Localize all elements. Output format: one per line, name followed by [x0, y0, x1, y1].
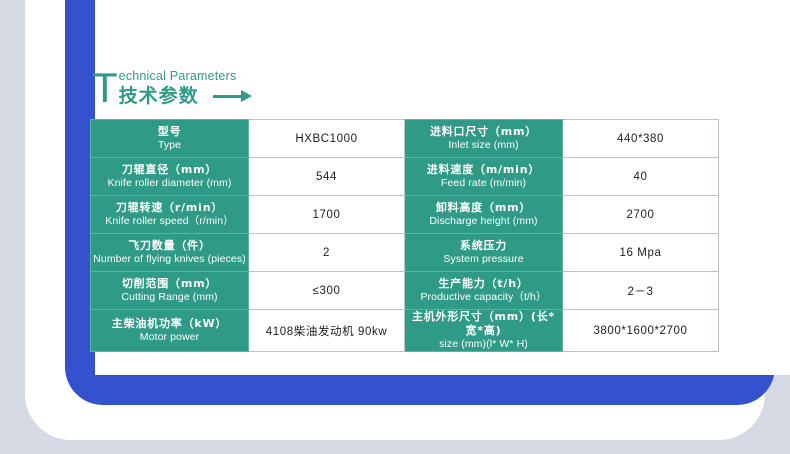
content-area: T echnical Parameters 技术参数 型号 Type HXBC1… [0, 0, 790, 454]
param-label-en: Feed rate (m/min) [407, 177, 560, 190]
param-label-cn: 刀辊直径（mm） [93, 163, 246, 177]
heading-chinese-row: 技术参数 [119, 85, 253, 107]
param-label-cell: 型号 Type [91, 120, 249, 158]
param-value-cell: 2 [249, 234, 405, 272]
param-label-cn: 卸料高度（mm） [407, 201, 560, 215]
param-label-en: Cutting Range (mm) [93, 291, 246, 304]
param-label-en: Motor power [93, 331, 246, 344]
param-label-cn: 进料口尺寸（mm） [407, 125, 560, 139]
param-label-en: Number of flying knives (pieces) [93, 253, 246, 266]
param-label-cell: 刀辊直径（mm） Knife roller diameter (mm) [91, 158, 249, 196]
technical-parameters-table: 型号 Type HXBC1000 进料口尺寸（mm） Inlet size (m… [90, 119, 719, 352]
param-label-en: Knife roller speed（r/min） [93, 215, 246, 228]
table-row: 刀辊直径（mm） Knife roller diameter (mm) 544 … [91, 158, 719, 196]
param-label-cell: 刀辊转速（r/min） Knife roller speed（r/min） [91, 196, 249, 234]
param-label-cn: 主柴油机功率（kW） [93, 317, 246, 331]
param-label-cn: 系统压力 [407, 239, 560, 253]
param-label-en: size (mm)(l* W* H) [407, 338, 560, 351]
heading-english: echnical Parameters [119, 69, 253, 83]
param-label-en: Knife roller diameter (mm) [93, 177, 246, 190]
table-row: 型号 Type HXBC1000 进料口尺寸（mm） Inlet size (m… [91, 120, 719, 158]
param-label-cell: 生产能力（t/h） Productive capacity（t/h） [405, 272, 563, 310]
table-row: 主柴油机功率（kW） Motor power 4108柴油发动机 90kw 主机… [91, 310, 719, 352]
param-label-en: Productive capacity（t/h） [407, 291, 560, 304]
table-row: 刀辊转速（r/min） Knife roller speed（r/min） 17… [91, 196, 719, 234]
param-label-cn: 切削范围（mm） [93, 277, 246, 291]
param-value-cell: 2700 [563, 196, 719, 234]
param-label-cn: 主机外形尺寸（mm）(长*宽*高) [407, 310, 560, 338]
param-label-en: Inlet size (mm) [407, 139, 560, 152]
table-row: 飞刀数量（件） Number of flying knives (pieces)… [91, 234, 719, 272]
param-label-cn: 刀辊转速（r/min） [93, 201, 246, 215]
param-value-cell: 3800*1600*2700 [563, 310, 719, 352]
param-label-cell: 系统压力 System pressure [405, 234, 563, 272]
param-value-cell: 16 Mpa [563, 234, 719, 272]
heading-chinese: 技术参数 [119, 85, 199, 107]
param-label-cell: 切削范围（mm） Cutting Range (mm) [91, 272, 249, 310]
param-label-cn: 飞刀数量（件） [93, 239, 246, 253]
param-label-cn: 生产能力（t/h） [407, 277, 560, 291]
table-row: 切削范围（mm） Cutting Range (mm) ≤300 生产能力（t/… [91, 272, 719, 310]
param-label-cell: 飞刀数量（件） Number of flying knives (pieces) [91, 234, 249, 272]
param-label-cn: 进料速度（m/min） [407, 163, 560, 177]
param-label-cell: 主柴油机功率（kW） Motor power [91, 310, 249, 352]
param-label-cn: 型号 [93, 125, 246, 139]
param-value-cell: 440*380 [563, 120, 719, 158]
section-heading: T echnical Parameters 技术参数 [92, 68, 253, 107]
param-value-cell: 4108柴油发动机 90kw [249, 310, 405, 352]
param-label-cell: 进料速度（m/min） Feed rate (m/min) [405, 158, 563, 196]
heading-initial: T [92, 70, 118, 106]
param-label-cell: 进料口尺寸（mm） Inlet size (mm) [405, 120, 563, 158]
param-value-cell: ≤300 [249, 272, 405, 310]
param-label-cell: 卸料高度（mm） Discharge height (mm) [405, 196, 563, 234]
param-value-cell: HXBC1000 [249, 120, 405, 158]
param-value-cell: 40 [563, 158, 719, 196]
param-value-cell: 1700 [249, 196, 405, 234]
param-value-cell: 544 [249, 158, 405, 196]
param-value-cell: 2－3 [563, 272, 719, 310]
heading-text-block: echnical Parameters 技术参数 [119, 69, 253, 107]
param-label-cell: 主机外形尺寸（mm）(长*宽*高) size (mm)(l* W* H) [405, 310, 563, 352]
param-label-en: Type [93, 139, 246, 152]
param-label-en: System pressure [407, 253, 560, 266]
param-label-en: Discharge height (mm) [407, 215, 560, 228]
right-arrow-icon [213, 90, 253, 102]
